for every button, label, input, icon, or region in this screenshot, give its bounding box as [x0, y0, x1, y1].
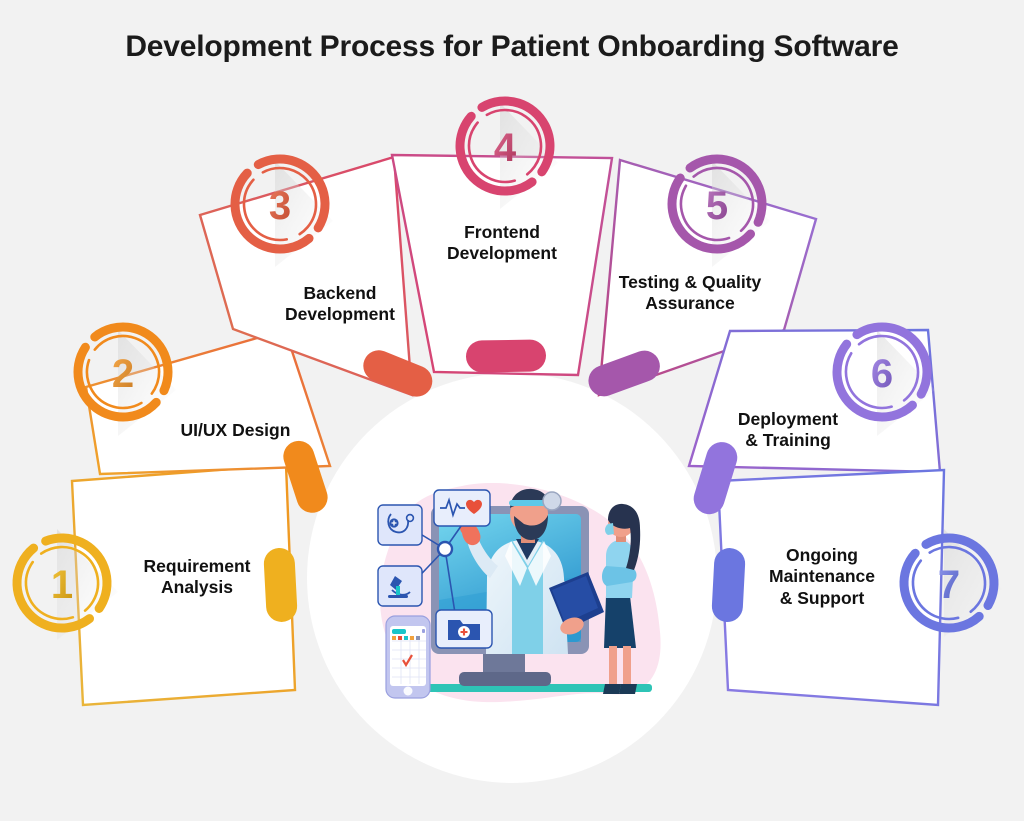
monitor-base — [459, 672, 551, 686]
medical-folder-icon-card — [436, 610, 492, 648]
telehealth-doctor-illustration — [378, 483, 661, 702]
stethoscope-icon-card — [378, 505, 422, 545]
step-6-number: 6 — [871, 352, 893, 396]
woman-shoe-right — [619, 684, 637, 694]
calendar-phone — [386, 616, 430, 698]
ecg-heart-icon-card — [434, 490, 490, 526]
step-4-number: 4 — [494, 126, 517, 170]
step-7-number: 7 — [938, 563, 960, 607]
step-card-7[interactable] — [718, 470, 944, 705]
woman-shoe-left — [603, 684, 621, 694]
head-mirror — [543, 492, 561, 510]
step-1-connector — [263, 547, 298, 623]
step-2-number: 2 — [112, 352, 134, 396]
step-3-number: 3 — [269, 184, 291, 228]
step-7-connector — [711, 547, 746, 623]
step-5-number: 5 — [706, 184, 728, 228]
microscope-icon-card — [378, 566, 422, 606]
infographic-canvas: Development Process for Patient Onboardi… — [0, 0, 1024, 821]
step-1-number: 1 — [51, 563, 73, 607]
process-diagram: 1 2 3 4 5 — [0, 0, 1024, 821]
network-node — [438, 542, 452, 556]
step-4-connector — [466, 339, 547, 372]
